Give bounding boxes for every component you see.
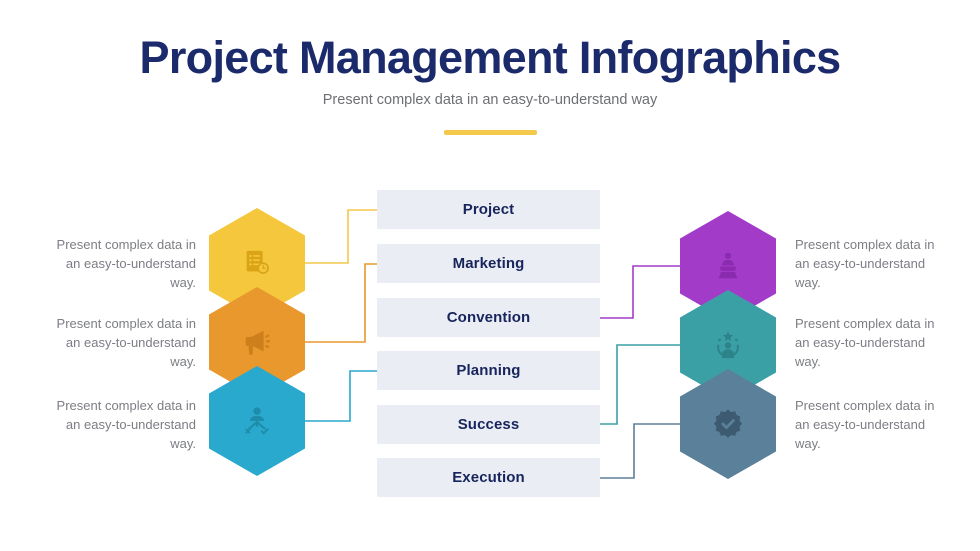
center-bar-planning[interactable]: Planning xyxy=(377,351,600,390)
speaker-podium-icon xyxy=(713,251,743,281)
description-right-3: Present complex data in an easy-to-under… xyxy=(795,397,945,454)
center-bar-label: Project xyxy=(463,201,515,218)
description-left-1: Present complex data in an easy-to-under… xyxy=(46,236,196,293)
person-star-icon xyxy=(713,330,743,360)
hexagon-badge-check[interactable] xyxy=(680,369,776,479)
center-bar-marketing[interactable]: Marketing xyxy=(377,244,600,283)
center-bar-label: Marketing xyxy=(453,255,525,272)
center-bar-convention[interactable]: Convention xyxy=(377,298,600,337)
page-title: Project Management Infographics xyxy=(0,34,980,81)
connector-execution xyxy=(589,424,680,482)
description-right-1: Present complex data in an easy-to-under… xyxy=(795,236,945,293)
infographic-slide: Project Management Infographics Present … xyxy=(0,0,980,551)
connector-convention xyxy=(589,266,680,322)
page-subtitle: Present complex data in an easy-to-under… xyxy=(0,92,980,108)
center-bar-label: Convention xyxy=(447,309,531,326)
center-bar-label: Success xyxy=(458,416,520,433)
checklist-clock-icon xyxy=(242,248,272,278)
person-choice-icon xyxy=(242,406,272,436)
description-left-2: Present complex data in an easy-to-under… xyxy=(46,315,196,372)
center-bar-success[interactable]: Success xyxy=(377,405,600,444)
center-bar-execution[interactable]: Execution xyxy=(377,458,600,497)
center-bar-label: Execution xyxy=(452,469,525,486)
center-bar-label: Planning xyxy=(456,362,520,379)
connector-success xyxy=(589,345,680,428)
megaphone-icon xyxy=(241,328,273,356)
slide-header: Project Management Infographics Present … xyxy=(0,34,980,108)
center-bar-project[interactable]: Project xyxy=(377,190,600,229)
description-left-3: Present complex data in an easy-to-under… xyxy=(46,397,196,454)
badge-check-icon xyxy=(713,409,743,439)
description-right-2: Present complex data in an easy-to-under… xyxy=(795,315,945,372)
hexagon-person-choice[interactable] xyxy=(209,366,305,476)
title-accent-bar xyxy=(444,130,537,135)
